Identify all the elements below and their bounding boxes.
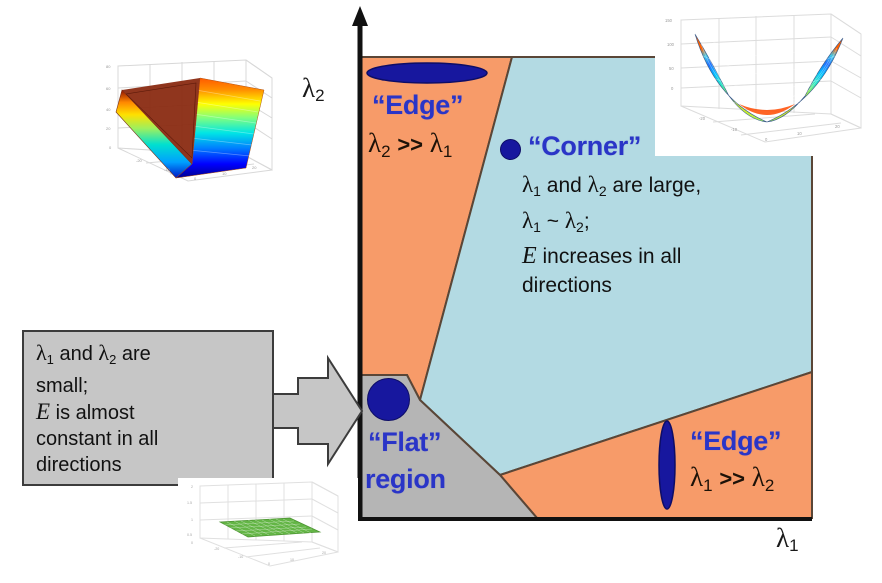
- thumbnail-surface-bowl: 150100 500 -20-100 1020: [655, 4, 877, 156]
- edge-top-sub-left: 2: [381, 142, 390, 161]
- callout-lambda-2: λ: [98, 340, 109, 365]
- edge-top-ellipse-marker: [362, 60, 492, 88]
- svg-text:10: 10: [222, 171, 227, 176]
- callout-energy-symbol: E: [36, 399, 50, 424]
- svg-text:2: 2: [191, 485, 193, 489]
- svg-text:20: 20: [835, 124, 840, 129]
- callout-sub-1: 1: [47, 352, 54, 367]
- edge-bottom-sub-right: 2: [765, 476, 774, 495]
- corner-line1-post: are large,: [607, 174, 702, 197]
- corner-lambda-2: λ: [588, 172, 599, 197]
- surface-bowl-plot: 150100 500 -20-100 1020: [655, 4, 877, 156]
- thumbnail-surface-flat: 21.5 10.50 -20-100 1020: [178, 478, 358, 578]
- corner-description-line-1: λ1 and λ2 are large,: [522, 170, 701, 206]
- edge-top-label: “Edge”: [372, 90, 463, 121]
- callout-line-2: small;: [36, 373, 262, 399]
- corner-energy-symbol: E: [522, 243, 537, 269]
- y-axis-arrowhead: [352, 6, 368, 26]
- edge-bottom-expression: λ1 >> λ2: [690, 462, 774, 496]
- corner-description-line-3: E increases in all: [522, 242, 701, 271]
- edge-top-operator: >>: [397, 132, 423, 157]
- callout-line3-post: is almost: [50, 402, 134, 424]
- flat-label-line-2: region: [365, 464, 446, 495]
- corner-dot-marker: [500, 139, 521, 160]
- svg-text:0.5: 0.5: [187, 533, 192, 537]
- svg-text:50: 50: [669, 66, 674, 71]
- svg-text:-20: -20: [699, 116, 706, 121]
- svg-text:-10: -10: [164, 167, 171, 172]
- flat-region-callout-text: λ1 and λ2 are small; E is almost constan…: [36, 340, 262, 478]
- corner-description-line-2: λ1 ~ λ2;: [522, 206, 701, 242]
- corner-label: “Corner”: [528, 131, 641, 162]
- svg-text:-10: -10: [238, 555, 243, 559]
- corner-line2-mid: ~: [541, 210, 565, 233]
- svg-text:20: 20: [106, 126, 111, 131]
- corner-line3-post: increases in all: [537, 245, 682, 268]
- corner-sub-4: 2: [576, 219, 584, 235]
- svg-text:20: 20: [322, 551, 326, 555]
- corner-lambda-4: λ: [565, 208, 576, 233]
- corner-lambda-3: λ: [522, 208, 533, 233]
- callout-line1-post: are: [116, 343, 150, 365]
- svg-text:150: 150: [665, 18, 673, 23]
- svg-text:60: 60: [106, 86, 111, 91]
- flat-dot-marker: [367, 378, 410, 421]
- y-axis-label: λ2: [302, 73, 325, 106]
- thumbnail-surface-valley: 8060 40200 -20-100 1020: [96, 52, 282, 192]
- edge-top-lambda-right: λ: [430, 128, 443, 158]
- svg-text:0: 0: [268, 562, 270, 566]
- x-axis-label: λ1: [776, 523, 799, 556]
- svg-text:10: 10: [290, 558, 294, 562]
- flat-region-callout-box: λ1 and λ2 are small; E is almost constan…: [22, 330, 274, 486]
- svg-text:-20: -20: [136, 158, 143, 163]
- edge-bottom-operator: >>: [719, 466, 745, 491]
- edge-top-sub-right: 1: [443, 142, 452, 161]
- svg-text:0: 0: [109, 145, 112, 150]
- surface-flat-plot: 21.5 10.50 -20-100 1020: [178, 478, 358, 578]
- svg-text:40: 40: [106, 107, 111, 112]
- svg-text:100: 100: [667, 42, 675, 47]
- svg-text:80: 80: [106, 64, 111, 69]
- edge-bottom-label: “Edge”: [690, 426, 781, 457]
- callout-arrow: [268, 352, 364, 470]
- edge-bottom-sub-left: 1: [703, 476, 712, 495]
- edge-top-expression: λ2 >> λ1: [368, 128, 452, 162]
- surface-valley-plot: 8060 40200 -20-100 1020: [96, 52, 282, 192]
- svg-text:10: 10: [797, 131, 802, 136]
- svg-text:-20: -20: [214, 547, 219, 551]
- callout-line-3: E is almost: [36, 399, 262, 426]
- svg-text:1.5: 1.5: [187, 501, 192, 505]
- svg-text:-10: -10: [731, 127, 738, 132]
- callout-line-5: directions: [36, 452, 262, 478]
- callout-line-1: λ1 and λ2 are: [36, 340, 262, 373]
- edge-top-lambda-left: λ: [368, 128, 381, 158]
- svg-text:0: 0: [191, 541, 193, 545]
- corner-sub-1: 1: [533, 183, 541, 199]
- edge-bottom-lambda-right: λ: [752, 462, 765, 492]
- corner-sub-2: 2: [599, 183, 607, 199]
- callout-line1-mid: and: [54, 343, 98, 365]
- corner-sub-3: 1: [533, 219, 541, 235]
- callout-line-4: constant in all: [36, 426, 262, 452]
- corner-line1-mid: and: [541, 174, 588, 197]
- edge-bottom-ellipse-marker: [655, 420, 679, 510]
- corner-lambda-1: λ: [522, 172, 533, 197]
- svg-text:20: 20: [252, 165, 257, 170]
- callout-lambda-1: λ: [36, 340, 47, 365]
- x-axis-label-lambda: λ: [776, 523, 789, 553]
- svg-text:1: 1: [191, 518, 193, 522]
- corner-description-line-4: directions: [522, 271, 701, 300]
- y-axis-label-sub: 2: [315, 86, 324, 105]
- corner-description: λ1 and λ2 are large, λ1 ~ λ2; E increase…: [522, 170, 701, 300]
- x-axis-label-sub: 1: [789, 536, 798, 555]
- svg-text:0: 0: [671, 86, 674, 91]
- flat-label-line-1: “Flat”: [368, 427, 441, 458]
- y-axis-label-lambda: λ: [302, 73, 315, 103]
- diagram-canvas: λ2 λ1 “Edge” λ2 >> λ1 “Corner” λ1 and λ2…: [0, 0, 882, 580]
- corner-line2-post: ;: [584, 210, 590, 233]
- edge-bottom-lambda-left: λ: [690, 462, 703, 492]
